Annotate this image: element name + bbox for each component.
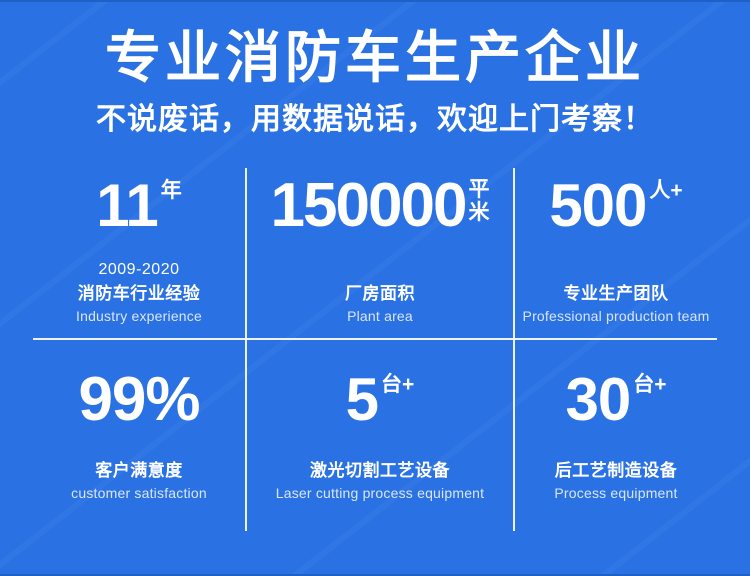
stat-cell-laser-cutting-equipment: 5 台+ 激光切割工艺设备 Laser cutting process equi… bbox=[245, 338, 513, 531]
stat-number-row: 11 年 bbox=[96, 174, 181, 238]
stat-label-cn: 厂房面积 bbox=[345, 281, 415, 306]
stat-label-en: Laser cutting process equipment bbox=[276, 483, 485, 503]
stat-cell-industry-experience: 11 年 2009-2020 消防车行业经验 Industry experien… bbox=[33, 168, 245, 338]
stat-label-cn: 客户满意度 bbox=[71, 458, 207, 483]
stat-unit: 台+ bbox=[381, 374, 414, 396]
stat-number: 500 bbox=[549, 174, 646, 238]
stat-number-row: 99% bbox=[78, 368, 199, 432]
stat-label-cn: 消防车行业经验 bbox=[76, 281, 202, 306]
promo-banner: 专业消防车生产企业 不说废话，用数据说话，欢迎上门考察！ 11 年 2009-2… bbox=[0, 0, 750, 576]
statistics-grid: 11 年 2009-2020 消防车行业经验 Industry experien… bbox=[33, 168, 717, 531]
stat-caption: 激光切割工艺设备 Laser cutting process equipment bbox=[276, 458, 485, 531]
stat-caption: 客户满意度 customer satisfaction bbox=[71, 458, 207, 531]
stat-label-cn: 后工艺制造设备 bbox=[554, 458, 677, 483]
stat-number-row: 5 台+ bbox=[346, 368, 415, 432]
stat-cell-process-equipment: 30 台+ 后工艺制造设备 Process equipment bbox=[513, 338, 717, 531]
page-title: 专业消防车生产企业 bbox=[0, 26, 750, 90]
stat-unit: 台+ bbox=[633, 374, 666, 396]
stat-cell-production-team: 500 人+ 专业生产团队 Professional production te… bbox=[513, 168, 717, 338]
stat-label-en: Process equipment bbox=[554, 483, 677, 503]
stat-caption: 厂房面积 Plant area bbox=[345, 281, 415, 338]
stat-number: 150000 bbox=[271, 174, 466, 238]
stat-unit: 年 bbox=[161, 180, 182, 202]
stat-label-en: customer satisfaction bbox=[71, 483, 207, 503]
stat-label-en: Plant area bbox=[345, 306, 415, 326]
stat-cell-customer-satisfaction: 99% 客户满意度 customer satisfaction bbox=[33, 338, 245, 531]
stat-caption: 专业生产团队 Professional production team bbox=[523, 281, 710, 338]
stat-label-en: Professional production team bbox=[523, 306, 710, 326]
stat-unit: 人+ bbox=[649, 180, 682, 202]
stat-label-cn: 激光切割工艺设备 bbox=[276, 458, 485, 483]
stat-number: 11 bbox=[96, 174, 157, 238]
stat-year-range: 2009-2020 bbox=[76, 259, 202, 281]
stat-unit-line-1: 平 bbox=[468, 178, 489, 201]
stat-number: 5 bbox=[346, 368, 378, 432]
stat-cell-plant-area: 150000 平 米 厂房面积 Plant area bbox=[245, 168, 513, 338]
page-subtitle: 不说废话，用数据说话，欢迎上门考察！ bbox=[0, 100, 750, 140]
stat-caption: 后工艺制造设备 Process equipment bbox=[554, 458, 677, 531]
stat-number-row: 500 人+ bbox=[549, 174, 682, 238]
banner-header: 专业消防车生产企业 不说废话，用数据说话，欢迎上门考察！ bbox=[0, 2, 750, 140]
stat-label-cn: 专业生产团队 bbox=[523, 281, 710, 306]
stat-label-en: Industry experience bbox=[76, 306, 202, 326]
stat-unit-line-2: 米 bbox=[468, 201, 489, 224]
stat-number: 99% bbox=[78, 368, 199, 432]
stat-caption: 2009-2020 消防车行业经验 Industry experience bbox=[76, 259, 202, 338]
stat-unit: 平 米 bbox=[468, 178, 489, 224]
stat-number: 30 bbox=[565, 368, 630, 432]
stat-number-row: 30 台+ bbox=[565, 368, 666, 432]
stat-number-row: 150000 平 米 bbox=[271, 174, 490, 238]
